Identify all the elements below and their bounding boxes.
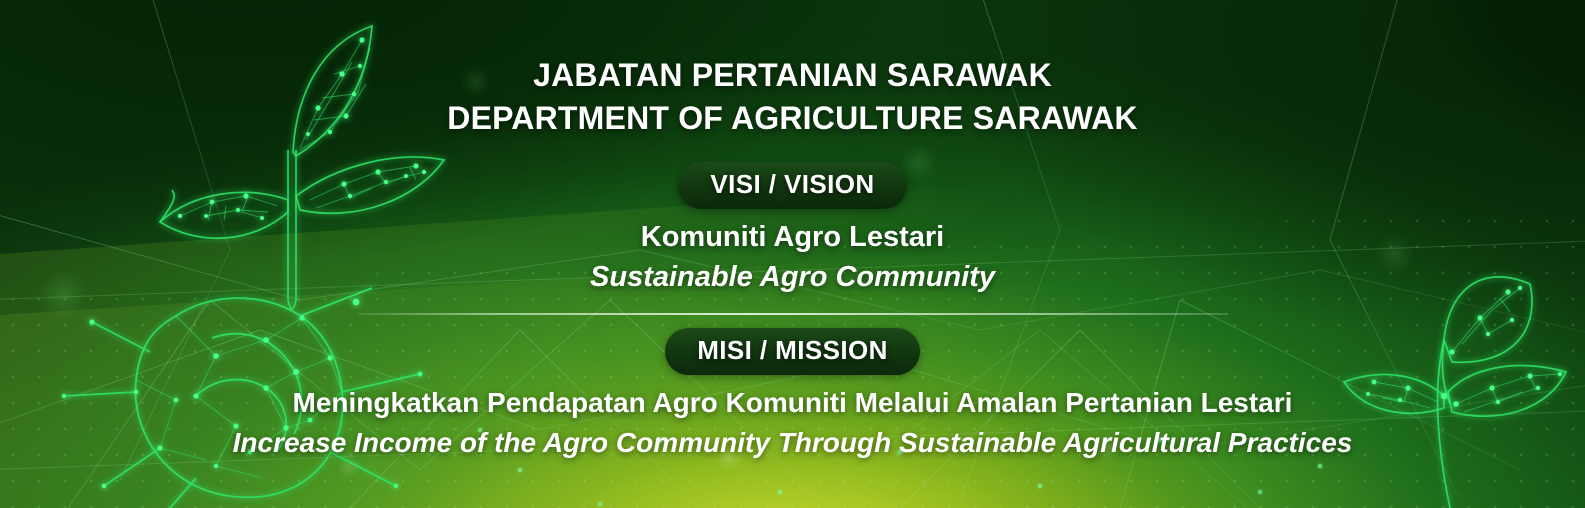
org-name-english: DEPARTMENT OF AGRICULTURE SARAWAK — [447, 97, 1137, 140]
vision-statement-malay: Komuniti Agro Lestari — [590, 219, 995, 257]
vision-section: VISI / VISION Komuniti Agro Lestari Sust… — [590, 162, 995, 297]
section-divider — [358, 313, 1228, 315]
mission-statement-malay: Meningkatkan Pendapatan Agro Komuniti Me… — [233, 385, 1353, 421]
vision-mission-banner: JABATAN PERTANIAN SARAWAK DEPARTMENT OF … — [0, 0, 1585, 508]
vision-badge: VISI / VISION — [678, 162, 906, 209]
org-name-malay: JABATAN PERTANIAN SARAWAK — [447, 54, 1137, 97]
mission-statement-english: Increase Income of the Agro Community Th… — [233, 425, 1353, 461]
vision-statement-english: Sustainable Agro Community — [590, 259, 995, 297]
banner-content: JABATAN PERTANIAN SARAWAK DEPARTMENT OF … — [0, 0, 1585, 508]
mission-section: MISI / MISSION Meningkatkan Pendapatan A… — [233, 328, 1353, 461]
mission-badge: MISI / MISSION — [665, 328, 920, 375]
organization-title: JABATAN PERTANIAN SARAWAK DEPARTMENT OF … — [447, 54, 1137, 140]
